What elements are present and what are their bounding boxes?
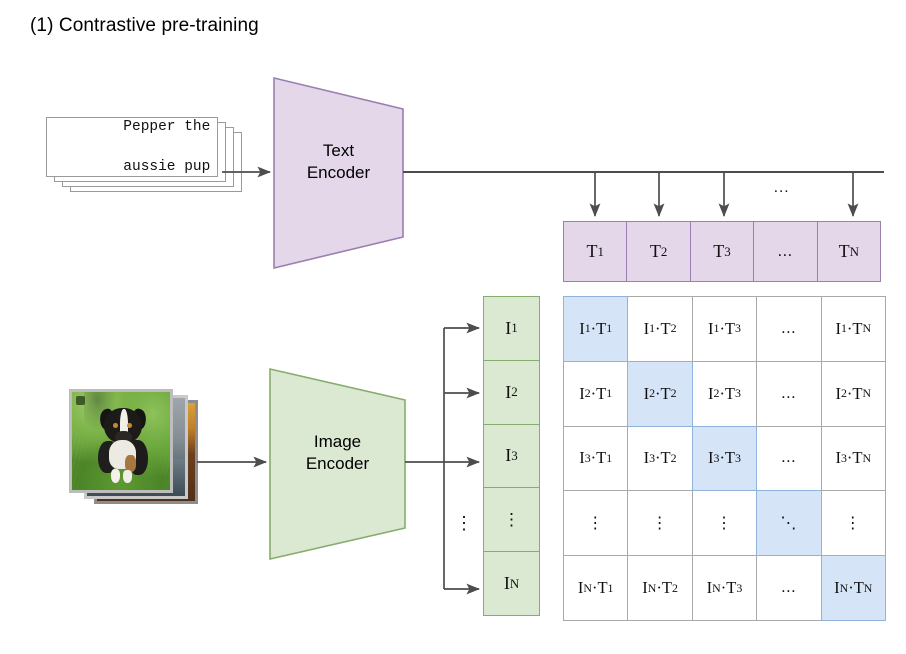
image-embedding-cell-dots: ⋮ [483, 487, 540, 552]
page-title: (1) Contrastive pre-training [30, 15, 259, 37]
caption-text: Pepper the aussie pup [54, 97, 211, 197]
ellipsis-image-column-left: ⋮ [455, 514, 473, 532]
image-embedding-column: I1I2I3⋮IN [483, 296, 540, 616]
image-embedding-cell-2: I2 [483, 360, 540, 425]
matrix-cell-r1-c1: I1·T1 [563, 296, 628, 362]
text-card-front: Pepper the aussie pup [46, 117, 218, 177]
text-embedding-cell-N: TN [817, 221, 881, 282]
matrix-cell-r4-c5: ⋮ [821, 490, 886, 556]
matrix-cell-r4-c4: ⋱ [756, 490, 821, 556]
matrix-cell-r2-c2: I2·T2 [627, 361, 692, 427]
text-embedding-row: T1T2T3...TN [563, 221, 881, 282]
matrix-cell-r5-c2: IN·T2 [627, 555, 692, 621]
matrix-cell-r4-c3: ⋮ [692, 490, 757, 556]
matrix-cell-r5-c4: ... [756, 555, 821, 621]
text-embedding-cell-3: T3 [690, 221, 754, 282]
matrix-cell-r4-c2: ⋮ [627, 490, 692, 556]
text-embedding-cell-2: T2 [626, 221, 690, 282]
photo-corner-mark [76, 396, 85, 405]
matrix-cell-r2-c4: ... [756, 361, 821, 427]
matrix-cell-r3-c2: I3·T2 [627, 426, 692, 492]
matrix-cell-r1-c5: I1·TN [821, 296, 886, 362]
matrix-cell-r2-c3: I2·T3 [692, 361, 757, 427]
text-embedding-cell-1: T1 [563, 221, 627, 282]
matrix-cell-r5-c5: IN·TN [821, 555, 886, 621]
text-encoder-block[interactable]: Text Encoder [273, 77, 404, 269]
matrix-cell-r3-c5: I3·TN [821, 426, 886, 492]
matrix-cell-r2-c1: I2·T1 [563, 361, 628, 427]
image-encoder-block[interactable]: Image Encoder [269, 368, 406, 560]
caption-line-1: Pepper the [123, 119, 210, 135]
matrix-cell-r2-c5: I2·TN [821, 361, 886, 427]
matrix-cell-r1-c4: ... [756, 296, 821, 362]
matrix-cell-r4-c1: ⋮ [563, 490, 628, 556]
caption-line-2: aussie pup [123, 159, 210, 175]
photo-front [69, 389, 173, 493]
image-embedding-cell-3: I3 [483, 424, 540, 489]
matrix-cell-r5-c3: IN·T3 [692, 555, 757, 621]
diagram-canvas: (1) Contrastive pre-training Pepper the … [0, 0, 906, 654]
similarity-matrix: I1·T1I1·T2I1·T3...I1·TNI2·T1I2·T2I2·T3..… [563, 296, 885, 620]
matrix-cell-r1-c3: I1·T3 [692, 296, 757, 362]
ellipsis-top-row: ... [774, 181, 790, 196]
matrix-cell-r1-c2: I1·T2 [627, 296, 692, 362]
matrix-cell-r5-c1: IN·T1 [563, 555, 628, 621]
puppy-illustration [96, 408, 151, 484]
matrix-cell-r3-c1: I3·T1 [563, 426, 628, 492]
image-embedding-cell-1: I1 [483, 296, 540, 361]
image-embedding-cell-N: IN [483, 551, 540, 616]
text-encoder-shape [273, 77, 404, 269]
matrix-cell-r3-c4: ... [756, 426, 821, 492]
image-encoder-shape [269, 368, 406, 560]
matrix-cell-r3-c3: I3·T3 [692, 426, 757, 492]
text-embedding-cell-dots: ... [753, 221, 817, 282]
